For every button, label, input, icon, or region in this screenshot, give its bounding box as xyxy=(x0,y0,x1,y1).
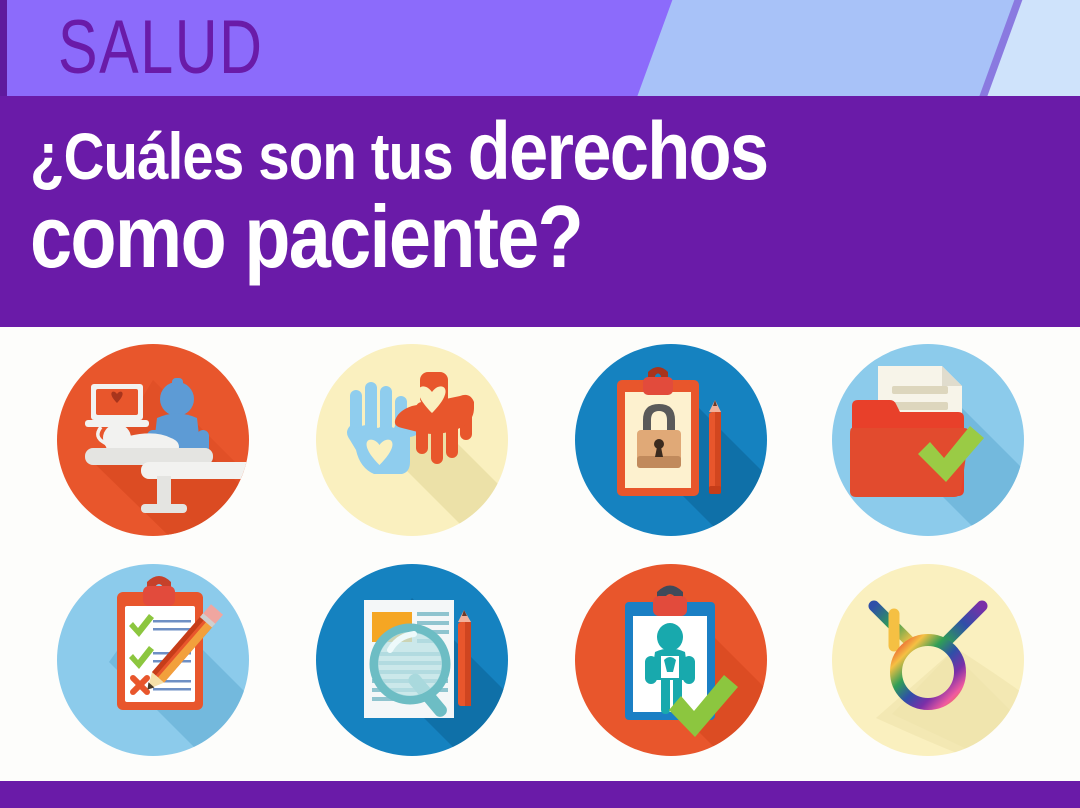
icon-cell-folder-check xyxy=(832,344,1024,536)
icon-cell-helping-hands xyxy=(316,344,508,536)
icon-cell-clipboard-lock xyxy=(575,344,767,536)
infographic-poster: SALUD ¿Cuáles son tus derechos como paci… xyxy=(0,0,1080,808)
clipboard-lock-privacy-icon xyxy=(575,344,767,536)
icon-cell-patient-record xyxy=(575,564,767,756)
patient-record-approved-icon xyxy=(575,564,767,756)
gender-identity-symbol-icon xyxy=(832,564,1024,756)
helping-hands-hearts-icon xyxy=(316,344,508,536)
icon-cell-document-review xyxy=(316,564,508,756)
page-title: ¿Cuáles son tus derechos como paciente? xyxy=(30,112,1065,281)
folder-check-artwork xyxy=(832,344,1024,536)
helping-hands-artwork xyxy=(316,344,508,536)
gender-identity-artwork xyxy=(832,564,1024,756)
document-magnifier-review-icon xyxy=(316,564,508,756)
kicker-label: SALUD xyxy=(58,3,263,93)
headline-emphasis-word: derechos xyxy=(468,106,768,197)
icon-cell-checklist xyxy=(57,564,249,756)
headline-block: ¿Cuáles son tus derechos como paciente? xyxy=(0,96,1080,327)
patient-care-icon xyxy=(57,344,249,536)
icon-cell-patient-care xyxy=(57,344,249,536)
footer-bar xyxy=(0,781,1080,808)
folder-document-check-icon xyxy=(832,344,1024,536)
document-review-artwork xyxy=(316,564,508,756)
clipboard-lock-artwork xyxy=(575,344,767,536)
patient-care-artwork xyxy=(57,344,249,536)
kicker-band: SALUD xyxy=(0,0,1080,96)
checklist-artwork xyxy=(57,564,249,756)
kicker-left-rule xyxy=(0,0,7,96)
patient-record-artwork xyxy=(575,564,767,756)
icon-grid xyxy=(0,327,1080,781)
checklist-clipboard-pencil-icon xyxy=(57,564,249,756)
headline-line1-lead: ¿Cuáles son tus xyxy=(30,120,468,193)
icon-cell-gender-identity xyxy=(832,564,1024,756)
headline-line2: como paciente? xyxy=(30,187,582,286)
